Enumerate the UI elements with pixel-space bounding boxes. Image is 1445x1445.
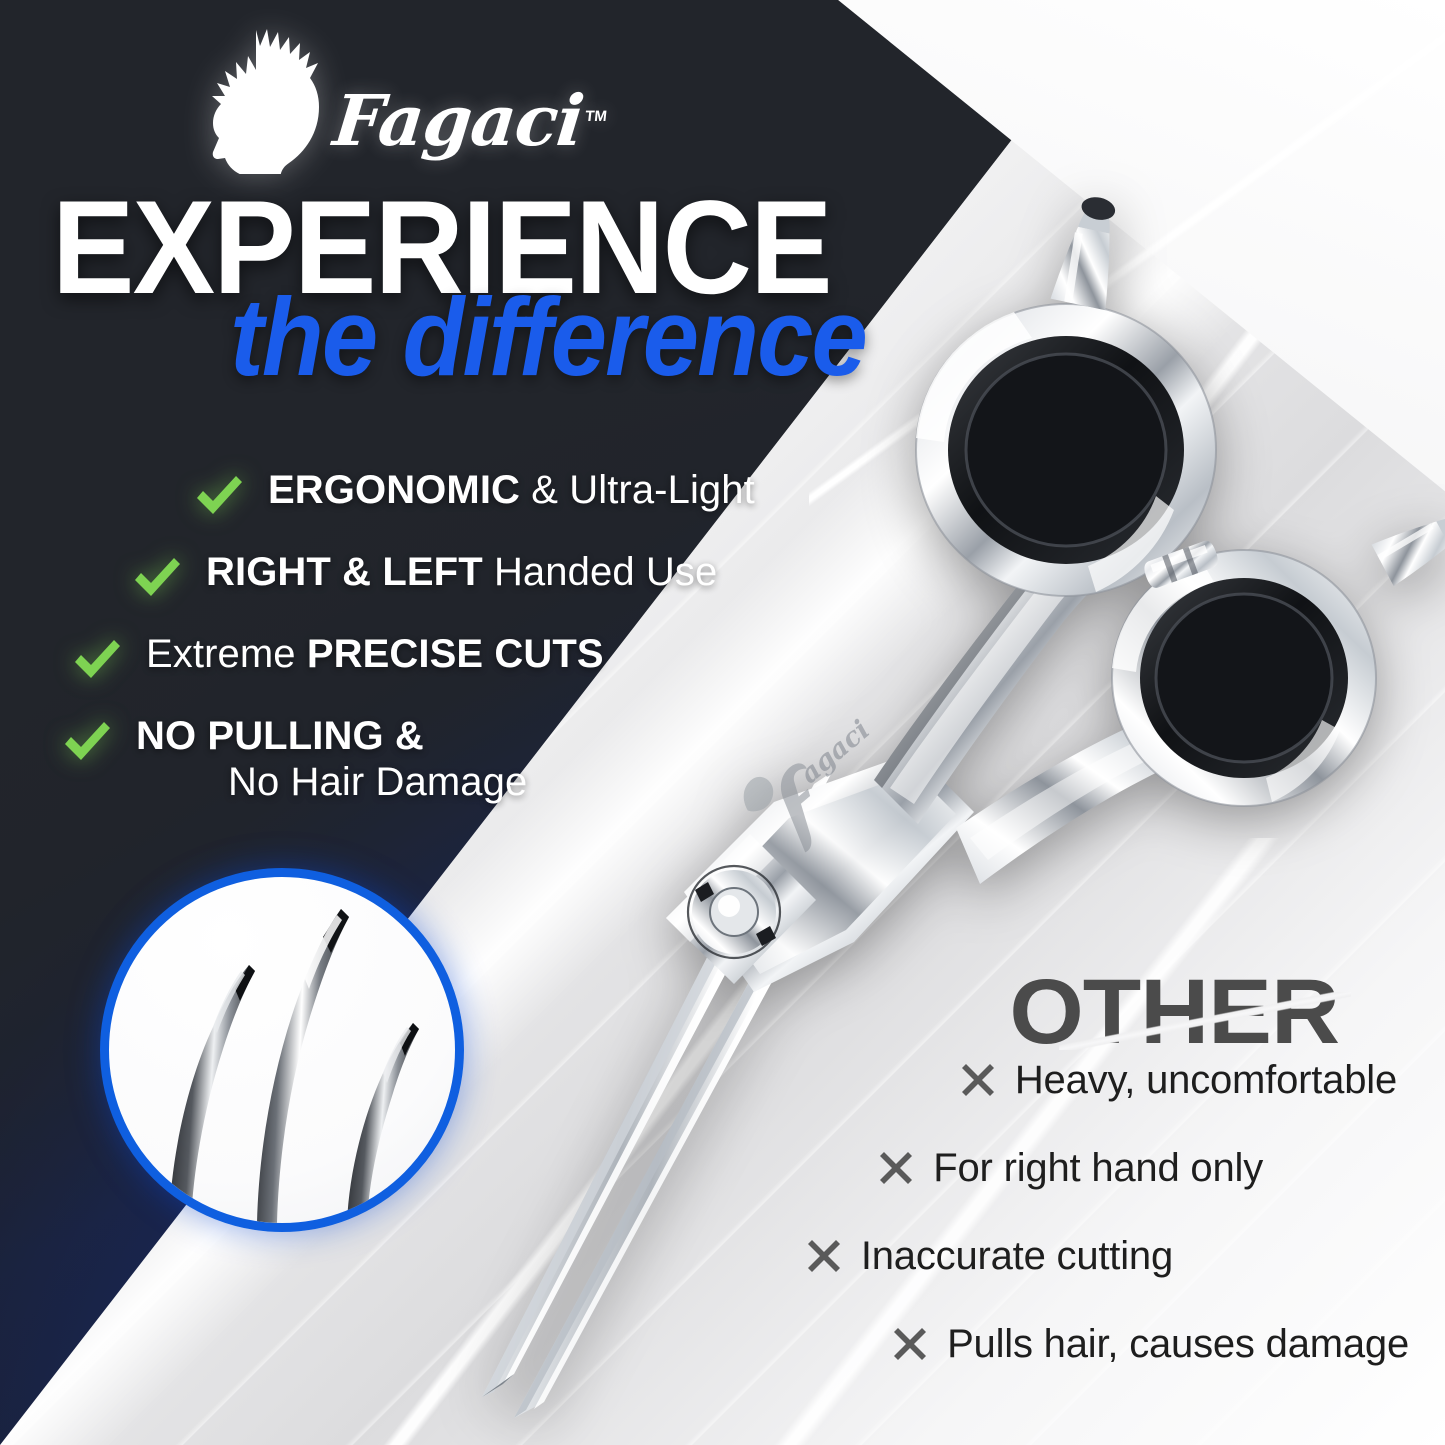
feature-item-handedness: RIGHT & LEFT Handed Use	[130, 548, 920, 606]
feature-label-bold: PRECISE CUTS	[307, 632, 604, 676]
brand-logo: FagaciTM	[196, 22, 556, 174]
feature-label: RIGHT & LEFT Handed Use	[206, 548, 717, 596]
comparison-item-label: Pulls hair, causes damage	[947, 1322, 1409, 1366]
feature-label-rest: & Ultra-Light	[520, 468, 755, 512]
feature-label-bold: ERGONOMIC	[268, 468, 520, 512]
product-marketing-banner: agaci	[0, 0, 1445, 1445]
comparison-item: Inaccurate cutting	[803, 1234, 1173, 1278]
check-icon	[60, 716, 114, 770]
feature-item-ergonomic: ERGONOMIC & Ultra-Light	[192, 466, 920, 524]
feature-label: Extreme PRECISE CUTS	[146, 630, 604, 678]
headline-secondary: the difference	[230, 283, 894, 393]
feature-label-bold: RIGHT & LEFT	[206, 550, 483, 594]
comparison-item-label: For right hand only	[933, 1146, 1263, 1190]
feature-item-precision: Extreme PRECISE CUTS	[70, 630, 920, 688]
comparison-item: Pulls hair, causes damage	[889, 1322, 1409, 1366]
check-icon	[70, 634, 124, 688]
feature-label: NO PULLING &No Hair Damage	[136, 712, 527, 805]
comparison-heading: OTHER	[1009, 966, 1339, 1058]
feature-label-rest: Handed Use	[483, 550, 718, 594]
x-icon	[889, 1323, 931, 1365]
feature-item-no-pulling: NO PULLING &No Hair Damage	[60, 712, 920, 805]
feature-label-line2: No Hair Damage	[228, 760, 527, 806]
x-icon	[875, 1147, 917, 1189]
feature-label: ERGONOMIC & Ultra-Light	[268, 466, 755, 514]
trademark-symbol: TM	[584, 108, 607, 125]
x-icon	[803, 1235, 845, 1277]
brand-wordmark: FagaciTM	[330, 86, 610, 156]
feature-label-rest: Extreme	[146, 632, 307, 676]
headline-block: EXPERIENCE the difference	[52, 186, 952, 393]
feature-label-bold: NO PULLING &	[136, 714, 424, 758]
blade-detail-inset	[100, 868, 464, 1232]
brand-name: Fagaci	[330, 79, 587, 162]
feature-list: ERGONOMIC & Ultra-Light RIGHT & LEFT Han…	[60, 466, 920, 829]
mohawk-face-silhouette-icon	[196, 26, 328, 174]
comparison-list: Heavy, uncomfortable For right hand only…	[643, 1058, 1423, 1366]
comparison-item-label: Heavy, uncomfortable	[1015, 1058, 1397, 1102]
comparison-item: Heavy, uncomfortable	[957, 1058, 1397, 1102]
comparison-item: For right hand only	[875, 1146, 1263, 1190]
x-icon	[957, 1059, 999, 1101]
check-icon	[192, 470, 246, 524]
blade-tips-macro-icon	[109, 877, 455, 1223]
comparison-item-label: Inaccurate cutting	[861, 1234, 1173, 1278]
check-icon	[130, 552, 184, 606]
